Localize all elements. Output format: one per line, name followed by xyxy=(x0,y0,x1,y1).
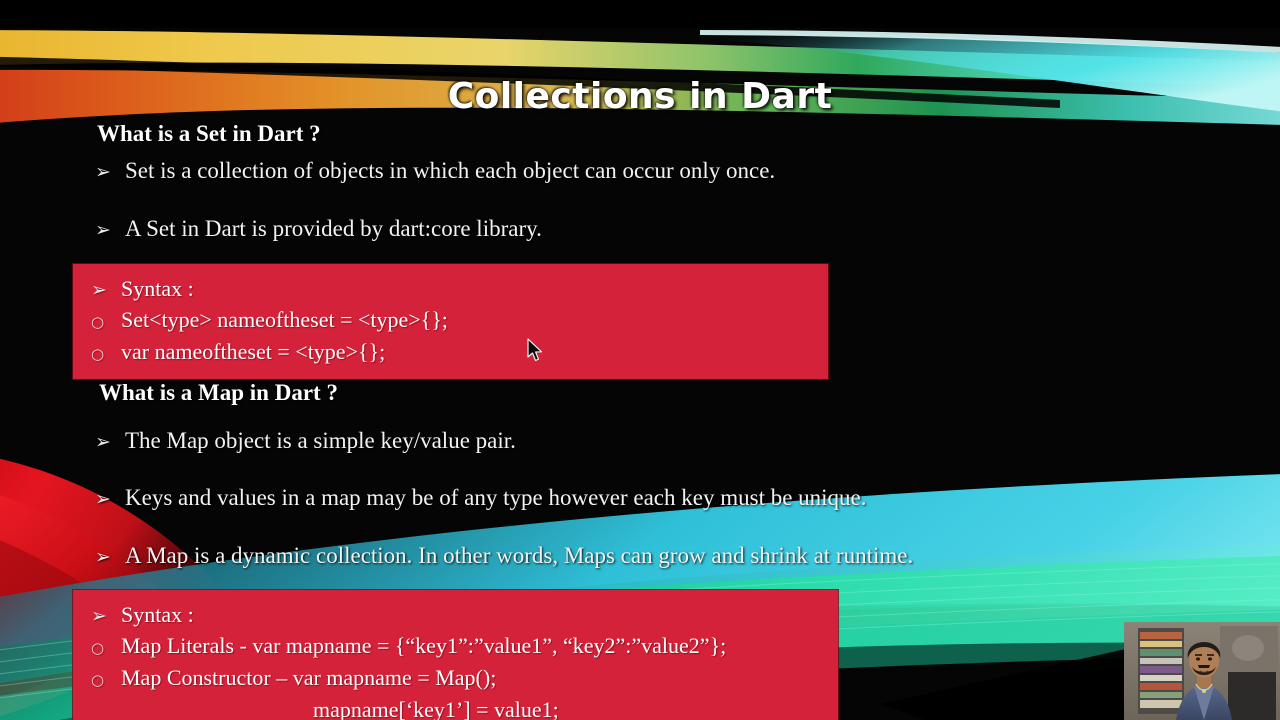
map-syntax-title: Syntax : xyxy=(121,600,194,629)
set-syntax-title-line: ➢ Syntax : xyxy=(91,274,828,305)
arrow-bullet-icon: ➢ xyxy=(91,276,121,305)
arrow-bullet-icon: ➢ xyxy=(95,546,125,568)
set-syntax-line-1: ○ Set<type> nameoftheset = <type>{}; xyxy=(91,305,828,337)
slide-content: What is a Set in Dart ? ➢ Set is a colle… xyxy=(0,28,1280,720)
map-syntax-line-2-text: Map Constructor – var mapname = Map(); xyxy=(121,663,496,692)
set-syntax-line-1-text: Set<type> nameoftheset = <type>{}; xyxy=(121,305,448,334)
bullet-map-1-text: The Map object is a simple key/value pai… xyxy=(125,428,516,454)
map-syntax-line-1-text: Map Literals - var mapname = {“key1”:”va… xyxy=(121,631,726,660)
webcam-video-frame xyxy=(1124,622,1280,720)
bullet-map-2-text: Keys and values in a map may be of any t… xyxy=(125,485,867,511)
set-syntax-box: ➢ Syntax : ○ Set<type> nameoftheset = <t… xyxy=(73,264,828,379)
bullet-map-3: ➢ A Map is a dynamic collection. In othe… xyxy=(95,543,913,569)
presentation-screen: Collections in Dart What is a Set in Dar… xyxy=(0,0,1280,720)
arrow-bullet-icon: ➢ xyxy=(95,431,125,453)
arrow-bullet-icon: ➢ xyxy=(95,219,125,241)
map-syntax-line-2: ○ Map Constructor – var mapname = Map(); xyxy=(91,663,838,695)
map-syntax-title-line: ➢ Syntax : xyxy=(91,600,838,631)
bullet-set-1: ➢ Set is a collection of objects in whic… xyxy=(95,158,775,184)
circle-bullet-icon: ○ xyxy=(91,308,121,337)
set-syntax-title: Syntax : xyxy=(121,274,194,303)
arrow-bullet-icon: ➢ xyxy=(95,488,125,510)
arrow-bullet-icon: ➢ xyxy=(91,602,121,631)
arrow-bullet-icon: ➢ xyxy=(95,161,125,183)
bullet-set-2-text: A Set in Dart is provided by dart:core l… xyxy=(125,216,542,242)
bullet-map-1: ➢ The Map object is a simple key/value p… xyxy=(95,428,516,454)
set-syntax-line-2-text: var nameoftheset = <type>{}; xyxy=(121,337,385,366)
letterbox-top-bar xyxy=(0,0,1280,28)
presenter-webcam-overlay[interactable] xyxy=(1124,622,1280,720)
circle-bullet-icon: ○ xyxy=(91,666,121,695)
circle-bullet-icon: ○ xyxy=(91,634,121,663)
circle-bullet-icon: ○ xyxy=(91,340,121,369)
heading-what-is-a-set: What is a Set in Dart ? xyxy=(97,121,321,147)
map-syntax-indented-line: mapname[‘key1’] = value1; xyxy=(313,695,838,720)
bullet-map-2: ➢ Keys and values in a map may be of any… xyxy=(95,485,867,511)
bullet-set-1-text: Set is a collection of objects in which … xyxy=(125,158,775,184)
slide-canvas: Collections in Dart What is a Set in Dar… xyxy=(0,28,1280,720)
set-syntax-line-2: ○ var nameoftheset = <type>{}; xyxy=(91,337,828,369)
map-syntax-box: ➢ Syntax : ○ Map Literals - var mapname … xyxy=(73,590,838,720)
bullet-map-3-text: A Map is a dynamic collection. In other … xyxy=(125,543,913,569)
bullet-set-2: ➢ A Set in Dart is provided by dart:core… xyxy=(95,216,542,242)
map-syntax-line-1: ○ Map Literals - var mapname = {“key1”:”… xyxy=(91,631,838,663)
heading-what-is-a-map: What is a Map in Dart ? xyxy=(99,380,338,406)
